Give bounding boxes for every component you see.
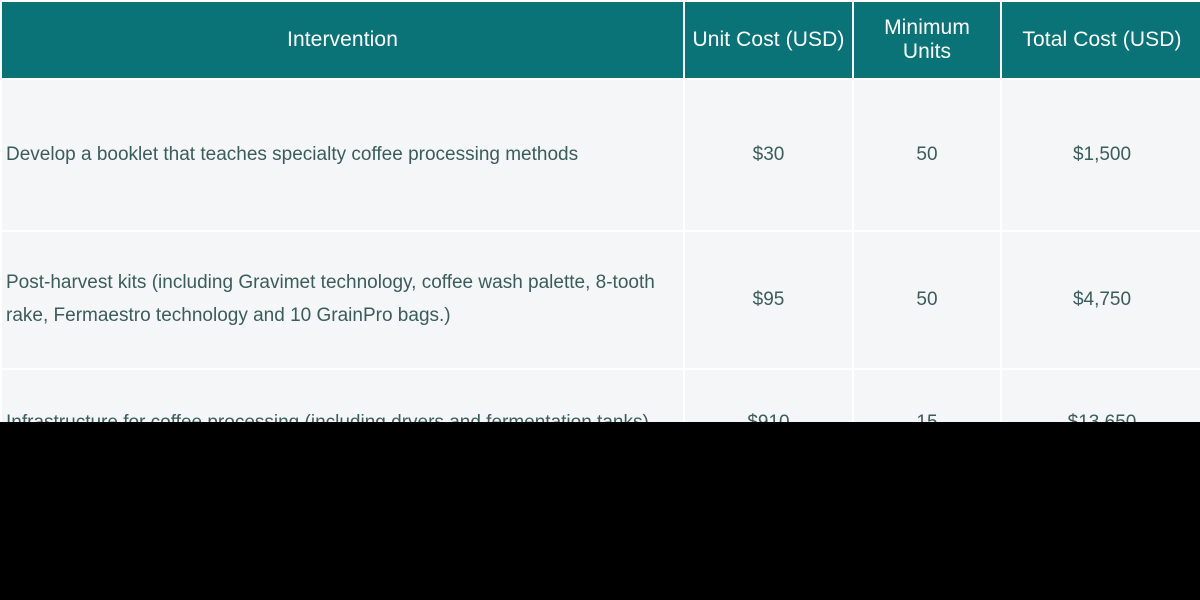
cell-minimum-units: 50	[854, 80, 1000, 230]
column-header-total-cost[interactable]: Total Cost (USD)	[1002, 2, 1200, 78]
cell-intervention: Develop a booklet that teaches specialty…	[2, 80, 683, 230]
table-row: Post-harvest kits (including Gravimet te…	[2, 232, 1200, 368]
cell-minimum-units: 50	[854, 232, 1000, 368]
page-root: Intervention Unit Cost (USD) Minimum Uni…	[0, 0, 1200, 600]
column-header-minimum-units[interactable]: Minimum Units	[854, 2, 1000, 78]
empty-area	[0, 422, 1200, 600]
cell-unit-cost: $30	[685, 80, 852, 230]
intervention-cost-table: Intervention Unit Cost (USD) Minimum Uni…	[0, 0, 1200, 478]
column-header-intervention[interactable]: Intervention	[2, 2, 683, 78]
table-container: Intervention Unit Cost (USD) Minimum Uni…	[0, 0, 1200, 478]
cell-unit-cost: $95	[685, 232, 852, 368]
table-row: Develop a booklet that teaches specialty…	[2, 80, 1200, 230]
column-header-unit-cost[interactable]: Unit Cost (USD)	[685, 2, 852, 78]
cell-intervention: Post-harvest kits (including Gravimet te…	[2, 232, 683, 368]
table-header-row: Intervention Unit Cost (USD) Minimum Uni…	[2, 2, 1200, 78]
cell-total-cost: $1,500	[1002, 80, 1200, 230]
table-header: Intervention Unit Cost (USD) Minimum Uni…	[2, 2, 1200, 78]
table-body: Develop a booklet that teaches specialty…	[2, 80, 1200, 476]
cell-total-cost: $4,750	[1002, 232, 1200, 368]
